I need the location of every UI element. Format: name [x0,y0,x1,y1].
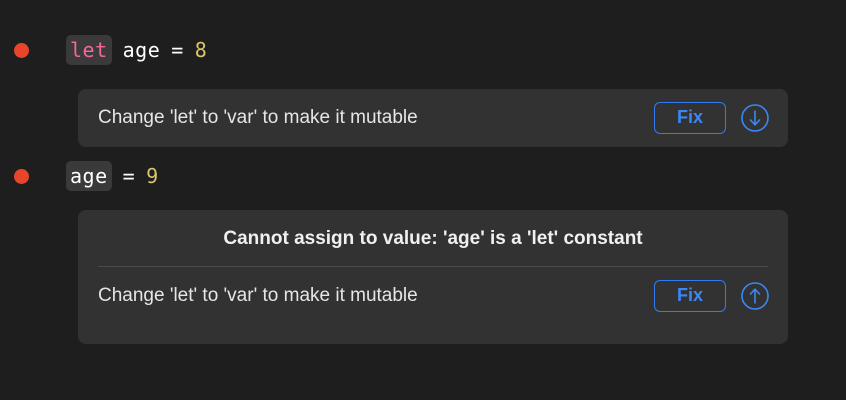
code-line-2-text: age=9 [66,164,159,188]
fix-button[interactable]: Fix [654,280,726,312]
code-line-2[interactable]: age=9 [0,156,846,196]
fixit-row: Change 'let' to 'var' to make it mutable… [78,89,788,147]
fixit-row: Change 'let' to 'var' to make it mutable… [78,267,788,325]
diagnostic-title: Cannot assign to value: 'age' is a 'let'… [78,210,788,266]
fixit-message: Change 'let' to 'var' to make it mutable [98,285,654,307]
code-token-identifier: age [66,161,112,191]
error-marker-icon[interactable] [14,43,29,58]
code-line-1-text: letage=8 [66,38,207,62]
fix-button[interactable]: Fix [654,102,726,134]
arrow-up-circle-icon[interactable] [740,281,770,311]
code-token-operator: = [123,164,136,188]
code-line-1[interactable]: letage=8 [0,30,846,70]
fixit-message: Change 'let' to 'var' to make it mutable [98,107,654,129]
diagnostic-panel-2: Cannot assign to value: 'age' is a 'let'… [78,210,788,344]
code-token-identifier: age [123,38,161,62]
code-editor: letage=8 Change 'let' to 'var' to make i… [0,0,846,400]
error-marker-icon[interactable] [14,169,29,184]
code-token-number: 9 [146,164,159,188]
code-token-keyword: let [66,35,112,65]
diagnostic-panel-1: Change 'let' to 'var' to make it mutable… [78,89,788,147]
arrow-down-circle-icon[interactable] [740,103,770,133]
code-token-operator: = [171,38,184,62]
code-token-number: 8 [195,38,208,62]
